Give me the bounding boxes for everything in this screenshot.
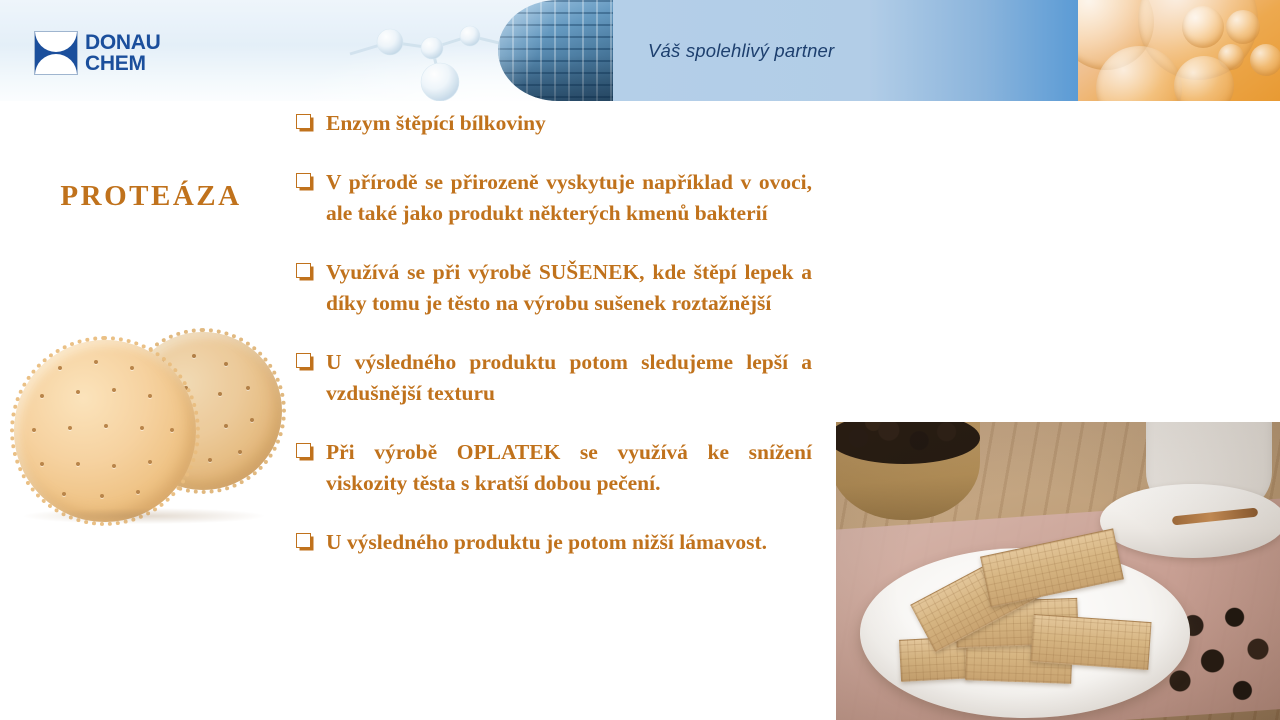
checkbox-square-bullet-icon — [296, 443, 311, 458]
checkbox-square-bullet-icon — [296, 353, 311, 368]
checkbox-square-bullet-icon — [296, 173, 311, 188]
biscuit-shadow — [24, 508, 264, 524]
list-item-label: Při výrobě OPLATEK se využívá ke snížení… — [326, 437, 812, 500]
list-item-label: Využívá se při výrobě SUŠENEK, kde štěpí… — [326, 257, 812, 320]
list-item-label: V přírodě se přirozeně vyskytuje napříkl… — [326, 167, 812, 230]
list-item: Enzym štěpící bílkoviny — [296, 108, 812, 140]
checkbox-square-bullet-icon — [296, 533, 311, 548]
logo-line-2: CHEM — [85, 53, 161, 74]
list-item: U výsledného produktu je potom nižší lám… — [296, 527, 812, 559]
company-tagline: Váš spolehlivý partner — [648, 40, 834, 62]
logo-line-1: DONAU — [85, 32, 161, 53]
round-biscuits-photo — [6, 322, 286, 527]
list-item-label: U výsledného produktu potom sledujeme le… — [326, 347, 812, 410]
orange-bubbles-photo — [1078, 0, 1280, 101]
list-item: U výsledného produktu potom sledujeme le… — [296, 347, 812, 410]
biscuit-front — [14, 340, 196, 522]
bullet-list: Enzym štěpící bílkoviny V přírodě se při… — [296, 108, 812, 585]
hourglass-logo-icon — [34, 31, 78, 75]
wafer-piece — [1030, 614, 1151, 670]
industrial-building-photo — [498, 0, 616, 101]
checkbox-square-bullet-icon — [296, 263, 311, 278]
list-item: Při výrobě OPLATEK se využívá ke snížení… — [296, 437, 812, 500]
list-item: V přírodě se přirozeně vyskytuje napříkl… — [296, 167, 812, 230]
donau-chem-logo: DONAU CHEM — [34, 31, 161, 75]
wafer-biscuits-plate-photo — [836, 422, 1280, 720]
logo-wordmark: DONAU CHEM — [85, 32, 161, 74]
list-item: Využívá se při výrobě SUŠENEK, kde štěpí… — [296, 257, 812, 320]
checkbox-square-bullet-icon — [296, 114, 311, 129]
header-banner: Váš spolehlivý partner DONAU CHEM — [0, 0, 1280, 101]
page-title: PROTEÁZA — [12, 180, 290, 213]
list-item-label: Enzym štěpící bílkoviny — [326, 108, 812, 140]
list-item-label: U výsledného produktu je potom nižší lám… — [326, 527, 812, 559]
